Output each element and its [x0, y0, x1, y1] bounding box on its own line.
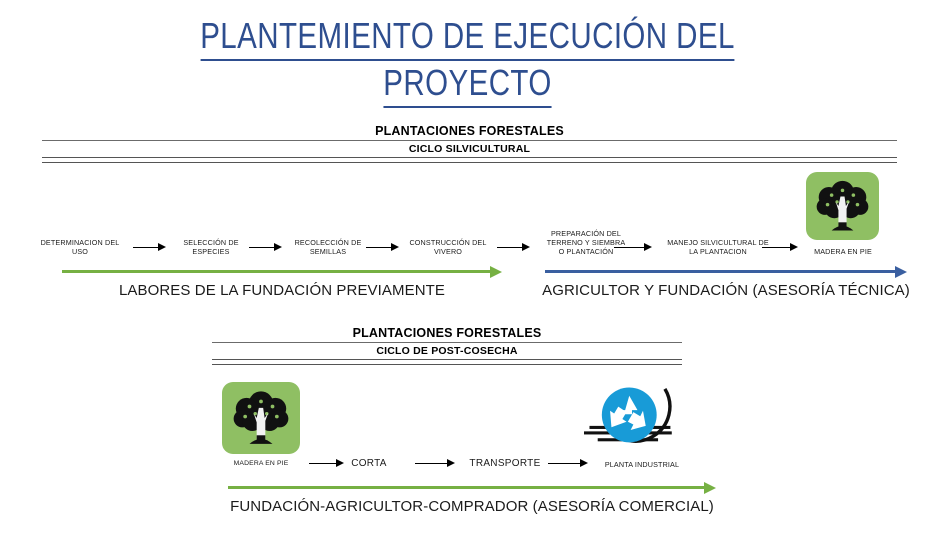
flow-step-seleccion-de-especies: SELECCIÓN DE ESPECIES — [168, 238, 254, 256]
tree-icon — [222, 382, 300, 454]
flow-step-transporte: TRANSPORTE — [450, 458, 560, 470]
green-progress-arrow-postcosecha — [228, 482, 716, 494]
caption-agricultor-fundacion: AGRICULTOR Y FUNDACIÓN (ASESORÍA TÉCNICA… — [527, 281, 925, 300]
section2-heading-title: PLANTACIONES FORESTALES — [212, 326, 682, 342]
flow-arrow-8 — [415, 459, 455, 468]
section2-heading: PLANTACIONES FORESTALES CICLO DE POST-CO… — [212, 326, 682, 365]
section1-heading-title: PLANTACIONES FORESTALES — [42, 124, 897, 140]
flow-arrow-2 — [249, 243, 282, 252]
green-progress-arrow-silvicultural — [62, 266, 502, 278]
rule-middle — [212, 359, 682, 360]
section1-heading-subtitle: CICLO SILVICULTURAL — [42, 141, 897, 157]
page-title-line1: PLANTEMIENTO DE EJECUCIÓN DEL — [200, 14, 735, 61]
blue-progress-arrow-agricultor — [545, 266, 907, 278]
page-title: PLANTEMIENTO DE EJECUCIÓN DEL PROYECTO — [84, 14, 851, 108]
flow-step-madera-en-pie: MADERA EN PIE — [800, 247, 886, 256]
flow-step-construccion-del-vivero: CONSTRUCCIÓN DEL VIVERO — [400, 238, 496, 256]
flow-step-madera-en-pie: MADERA EN PIE — [218, 460, 304, 469]
flow-arrow-1 — [133, 243, 166, 252]
flow-step-planta-industrial: PLANTA INDUSTRIAL — [587, 460, 697, 469]
rule-bottom — [212, 364, 682, 365]
flow-arrow-6 — [762, 243, 798, 252]
rule-middle — [42, 157, 897, 158]
caption-labores-fundacion: LABORES DE LA FUNDACIÓN PREVIAMENTE — [62, 281, 502, 300]
flow-arrow-7 — [309, 459, 344, 468]
flow-step-determinacion-del-uso: DETERMINACION DEL USO — [30, 238, 130, 256]
tree-icon — [806, 172, 879, 240]
flow-arrow-4 — [497, 243, 530, 252]
slide-canvas: PLANTEMIENTO DE EJECUCIÓN DEL PROYECTO P… — [0, 0, 935, 538]
recycle-plant-icon — [576, 382, 688, 454]
flow-arrow-3 — [366, 243, 399, 252]
flow-arrow-9 — [548, 459, 588, 468]
rule-bottom — [42, 162, 897, 163]
section2-heading-subtitle: CICLO DE POST-COSECHA — [212, 343, 682, 359]
section1-heading: PLANTACIONES FORESTALES CICLO SILVICULTU… — [42, 124, 897, 163]
flow-step-recoleccion-de-semillas: RECOLECCIÓN DE SEMILLAS — [284, 238, 372, 256]
caption-fundacion-agricultor-comprador: FUNDACIÓN-AGRICULTOR-COMPRADOR (ASESORÍA… — [196, 497, 748, 516]
flow-arrow-5 — [614, 243, 652, 252]
page-title-line2: PROYECTO — [383, 61, 551, 108]
